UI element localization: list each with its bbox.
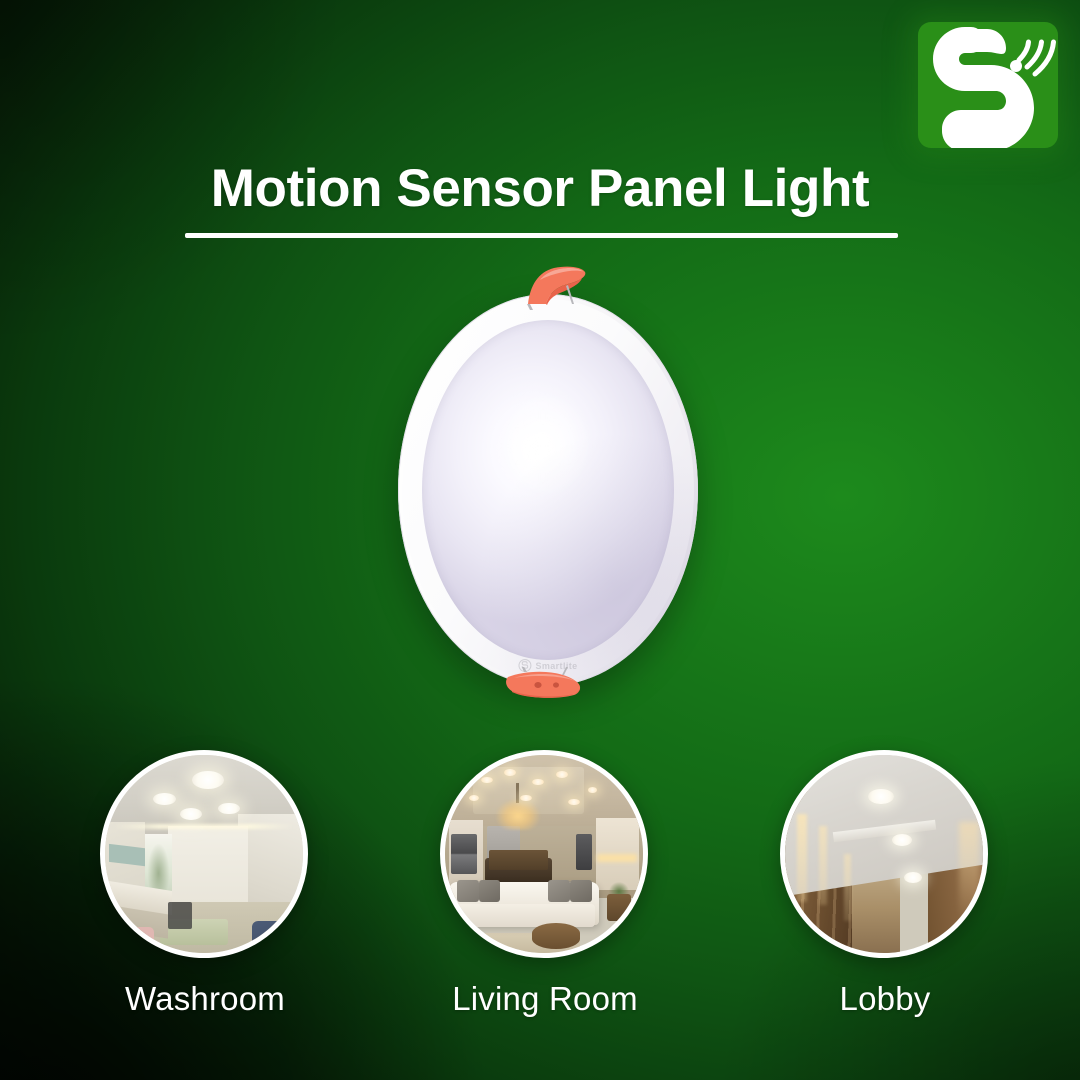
brand-logo-badge[interactable] bbox=[918, 22, 1058, 148]
ceiling-downlight bbox=[892, 834, 912, 846]
application-item-living-room[interactable]: Living Room bbox=[440, 750, 650, 1018]
ceiling-downlight bbox=[568, 799, 580, 806]
application-label: Lobby bbox=[780, 980, 990, 1018]
ceiling-downlight bbox=[192, 771, 224, 789]
s-wifi-signal-logo-icon bbox=[918, 22, 1058, 148]
living-room-interior-scene bbox=[445, 755, 643, 953]
mounting-clip-top-icon bbox=[510, 264, 588, 310]
lobby-corridor-scene bbox=[785, 755, 983, 953]
application-label: Living Room bbox=[440, 980, 650, 1018]
mounting-clip-bottom-icon bbox=[494, 667, 590, 711]
ceiling-downlight bbox=[469, 795, 479, 801]
application-item-washroom[interactable]: Washroom bbox=[100, 750, 310, 1018]
page-title-wrap: Motion Sensor Panel Light bbox=[0, 160, 1080, 217]
washroom-interior-scene bbox=[105, 755, 303, 953]
application-item-lobby[interactable]: Lobby bbox=[780, 750, 990, 1018]
ceiling-downlight bbox=[218, 803, 240, 815]
ceiling-downlight bbox=[904, 872, 922, 883]
panel-shading bbox=[398, 294, 698, 686]
ceiling-downlight bbox=[556, 771, 568, 778]
product-image: Smartlite bbox=[398, 268, 698, 718]
living-room-photo-circle bbox=[440, 750, 648, 958]
page-title: Motion Sensor Panel Light bbox=[211, 160, 869, 217]
ceiling-downlight bbox=[504, 769, 516, 776]
ceiling-downlight bbox=[588, 787, 598, 793]
application-label: Washroom bbox=[100, 980, 310, 1018]
washroom-photo-circle bbox=[100, 750, 308, 958]
title-underline-rule bbox=[185, 233, 898, 238]
lobby-photo-circle bbox=[780, 750, 988, 958]
panel-light-body: Smartlite bbox=[398, 294, 698, 686]
product-marketing-banner: Motion Sensor Panel Light bbox=[0, 0, 1080, 1080]
